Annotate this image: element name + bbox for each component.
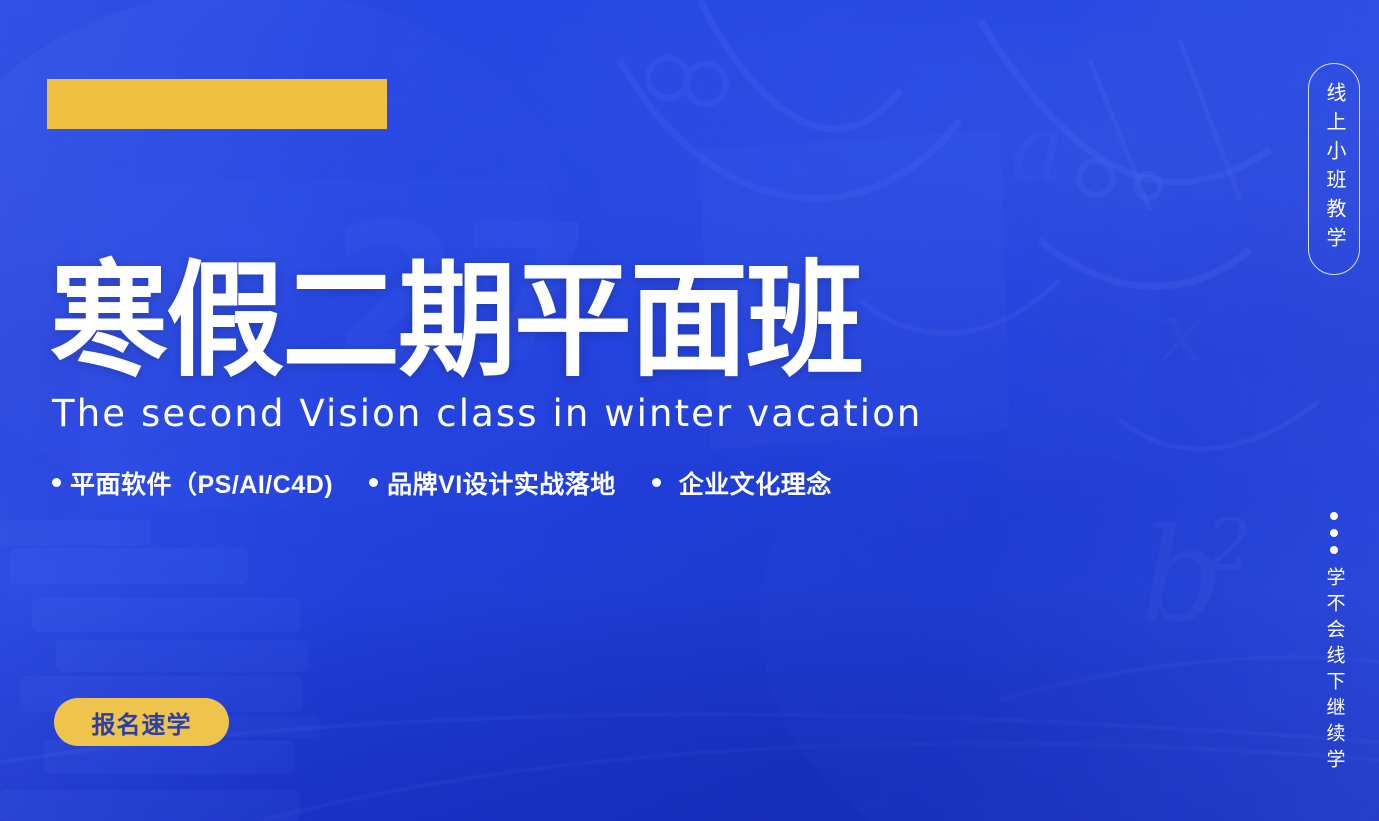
bullet-dot-icon	[52, 478, 61, 487]
online-class-badge: 线上小班教学	[1308, 63, 1360, 275]
list-item: 品牌VI设计实战落地	[369, 465, 616, 501]
three-dots-icon	[1330, 512, 1338, 554]
signup-cta-button[interactable]: 报名速学	[54, 698, 229, 746]
decorative-yellow-bar	[47, 79, 387, 129]
feature-label: 品牌VI设计实战落地	[387, 465, 616, 501]
bullet-dot-icon	[652, 478, 661, 487]
feature-label: 企业文化理念	[679, 465, 832, 501]
badge-label: 线上小班教学	[1324, 82, 1344, 256]
page-title: 寒假二期平面班	[50, 258, 950, 383]
bullet-dot-icon	[369, 478, 378, 487]
headline-block: 寒假二期平面班 The second Vision class in winte…	[50, 258, 950, 501]
list-item: 企业文化理念	[652, 465, 832, 501]
promo-poster: 27 b 2 a x	[0, 0, 1379, 821]
tagline-label: 学不会线下继续学	[1325, 567, 1344, 775]
subtitle: The second Vision class in winter vacati…	[52, 394, 950, 435]
guarantee-tagline: 学不会线下继续学	[1307, 512, 1361, 775]
list-item: 平面软件（PS/AI/C4D)	[52, 465, 333, 501]
feature-list: 平面软件（PS/AI/C4D) 品牌VI设计实战落地 企业文化理念	[52, 465, 950, 501]
feature-label: 平面软件（PS/AI/C4D)	[70, 465, 333, 501]
